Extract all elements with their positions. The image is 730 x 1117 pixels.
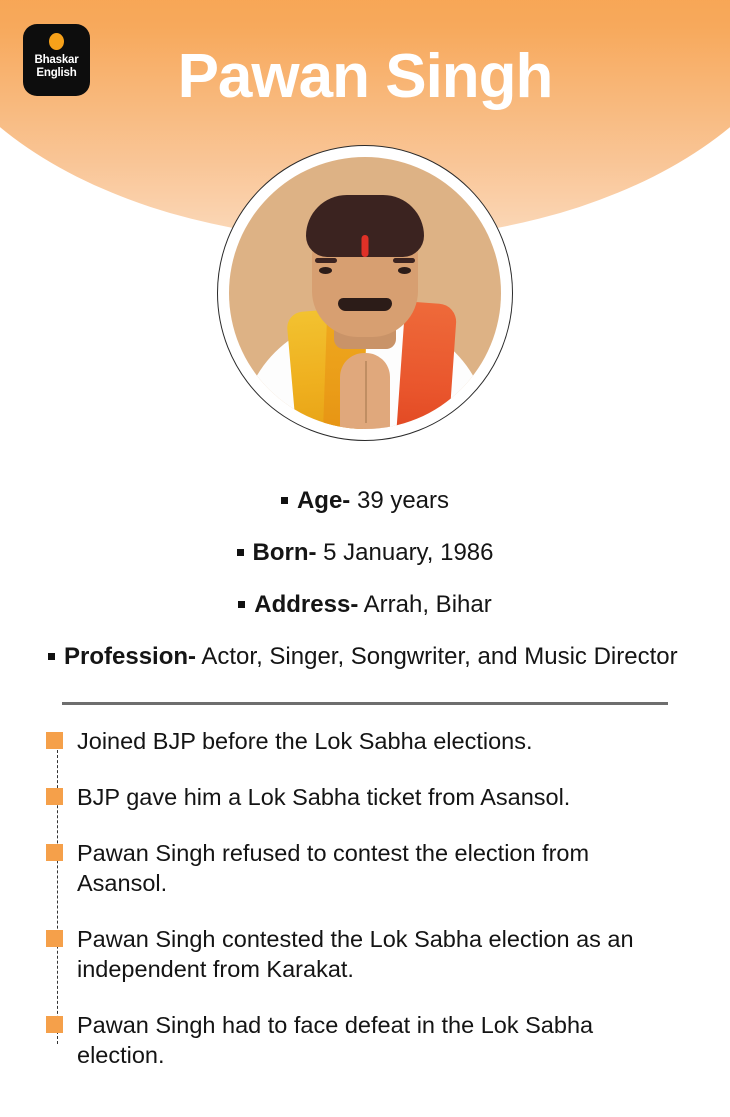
portrait-namaste-hands xyxy=(340,353,390,429)
timeline-item-text: Pawan Singh had to face defeat in the Lo… xyxy=(77,1010,677,1070)
timeline-bullet-icon xyxy=(46,732,63,749)
fact-label-age: Age- xyxy=(297,487,350,514)
timeline-bullet-icon xyxy=(46,788,63,805)
portrait-eye-right xyxy=(398,267,411,274)
fact-value-born: 5 January, 1986 xyxy=(323,539,493,566)
fact-label-born: Born- xyxy=(253,539,317,566)
portrait-eyebrow-right xyxy=(393,258,415,263)
fact-label-profession: Profession- xyxy=(64,643,196,670)
portrait-avatar xyxy=(217,145,513,441)
list-item: Joined BJP before the Lok Sabha election… xyxy=(46,726,706,756)
portrait-eyebrow-left xyxy=(315,258,337,263)
timeline-bullet-icon xyxy=(46,930,63,947)
fact-value-age: 39 years xyxy=(357,487,449,514)
square-bullet-icon xyxy=(238,601,245,608)
fact-value-profession: Actor, Singer, Songwriter, and Music Dir… xyxy=(201,643,677,670)
timeline-item-text: Pawan Singh contested the Lok Sabha elec… xyxy=(77,924,677,984)
fact-row-age: Age- 39 years xyxy=(48,484,682,518)
portrait-tilak xyxy=(362,235,369,257)
list-item: Pawan Singh refused to contest the elect… xyxy=(46,838,706,898)
portrait-eye-left xyxy=(319,267,332,274)
list-item: Pawan Singh had to face defeat in the Lo… xyxy=(46,1010,706,1070)
square-bullet-icon xyxy=(237,549,244,556)
timeline-item-text: BJP gave him a Lok Sabha ticket from Asa… xyxy=(77,782,570,812)
fact-row-profession: Profession- Actor, Singer, Songwriter, a… xyxy=(48,640,682,674)
timeline-item-text: Pawan Singh refused to contest the elect… xyxy=(77,838,677,898)
list-item: BJP gave him a Lok Sabha ticket from Asa… xyxy=(46,782,706,812)
fact-row-address: Address- Arrah, Bihar xyxy=(48,588,682,622)
timeline-bullet-icon xyxy=(46,844,63,861)
square-bullet-icon xyxy=(48,653,55,660)
section-divider xyxy=(62,702,668,705)
timeline-bullet-icon xyxy=(46,1016,63,1033)
fact-label-address: Address- xyxy=(254,591,358,618)
timeline-item-text: Joined BJP before the Lok Sabha election… xyxy=(77,726,533,756)
portrait-moustache xyxy=(338,298,392,311)
fact-row-born: Born- 5 January, 1986 xyxy=(48,536,682,570)
timeline-list: Joined BJP before the Lok Sabha election… xyxy=(46,726,706,1096)
page-title: Pawan Singh xyxy=(0,40,730,114)
fact-value-address: Arrah, Bihar xyxy=(364,591,492,618)
list-item: Pawan Singh contested the Lok Sabha elec… xyxy=(46,924,706,984)
facts-list: Age- 39 years Born- 5 January, 1986 Addr… xyxy=(48,484,682,680)
portrait-photo xyxy=(229,157,501,429)
square-bullet-icon xyxy=(281,497,288,504)
